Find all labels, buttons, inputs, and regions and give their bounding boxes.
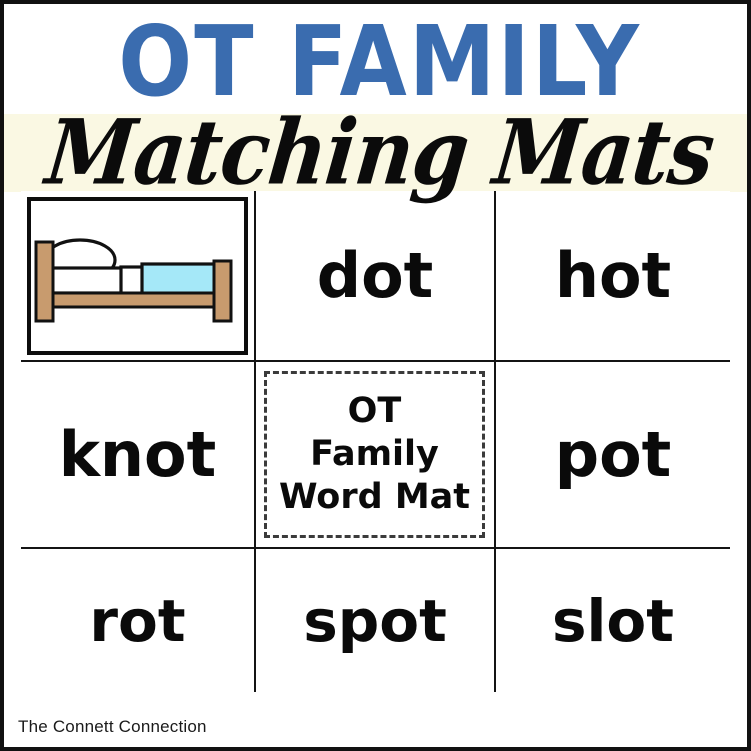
word-mat-title-card: OT Family Word Mat bbox=[264, 371, 485, 538]
subtitle-highlight-band bbox=[4, 114, 751, 192]
word-label: spot bbox=[303, 592, 447, 650]
grid-cell-word-slot[interactable]: slot bbox=[496, 549, 730, 692]
worksheet-page: OT FAMILY Matching Mats bbox=[0, 0, 751, 751]
grid-cell-word-hot[interactable]: hot bbox=[496, 191, 730, 362]
word-label: pot bbox=[555, 424, 672, 486]
word-label: slot bbox=[552, 592, 674, 650]
bed-illustration bbox=[30, 223, 246, 329]
grid-cell-word-knot[interactable]: knot bbox=[21, 362, 256, 549]
word-label: knot bbox=[59, 424, 217, 486]
grid-cell-title-card[interactable]: OT Family Word Mat bbox=[256, 362, 496, 549]
footer-credit: The Connett Connection bbox=[18, 717, 207, 737]
title-card-line-2: Family bbox=[310, 434, 439, 475]
grid-cell-word-pot[interactable]: pot bbox=[496, 362, 730, 549]
page-title: OT FAMILY bbox=[4, 4, 751, 122]
word-mat-grid: dot hot knot OT Family Word Mat pot rot … bbox=[21, 191, 730, 692]
page-title-text: OT FAMILY bbox=[118, 15, 641, 112]
picture-frame bbox=[27, 197, 248, 355]
title-card-line-3: Word Mat bbox=[279, 477, 470, 518]
grid-cell-word-spot[interactable]: spot bbox=[256, 549, 496, 692]
grid-cell-word-rot[interactable]: rot bbox=[21, 549, 256, 692]
word-label: rot bbox=[89, 592, 185, 650]
grid-cell-word-dot[interactable]: dot bbox=[256, 191, 496, 362]
grid-cell-picture[interactable] bbox=[21, 191, 256, 362]
word-label: hot bbox=[555, 245, 671, 307]
word-label: dot bbox=[317, 245, 434, 307]
title-card-line-1: OT bbox=[348, 391, 402, 432]
footer-credit-text: The Connett Connection bbox=[18, 717, 207, 736]
